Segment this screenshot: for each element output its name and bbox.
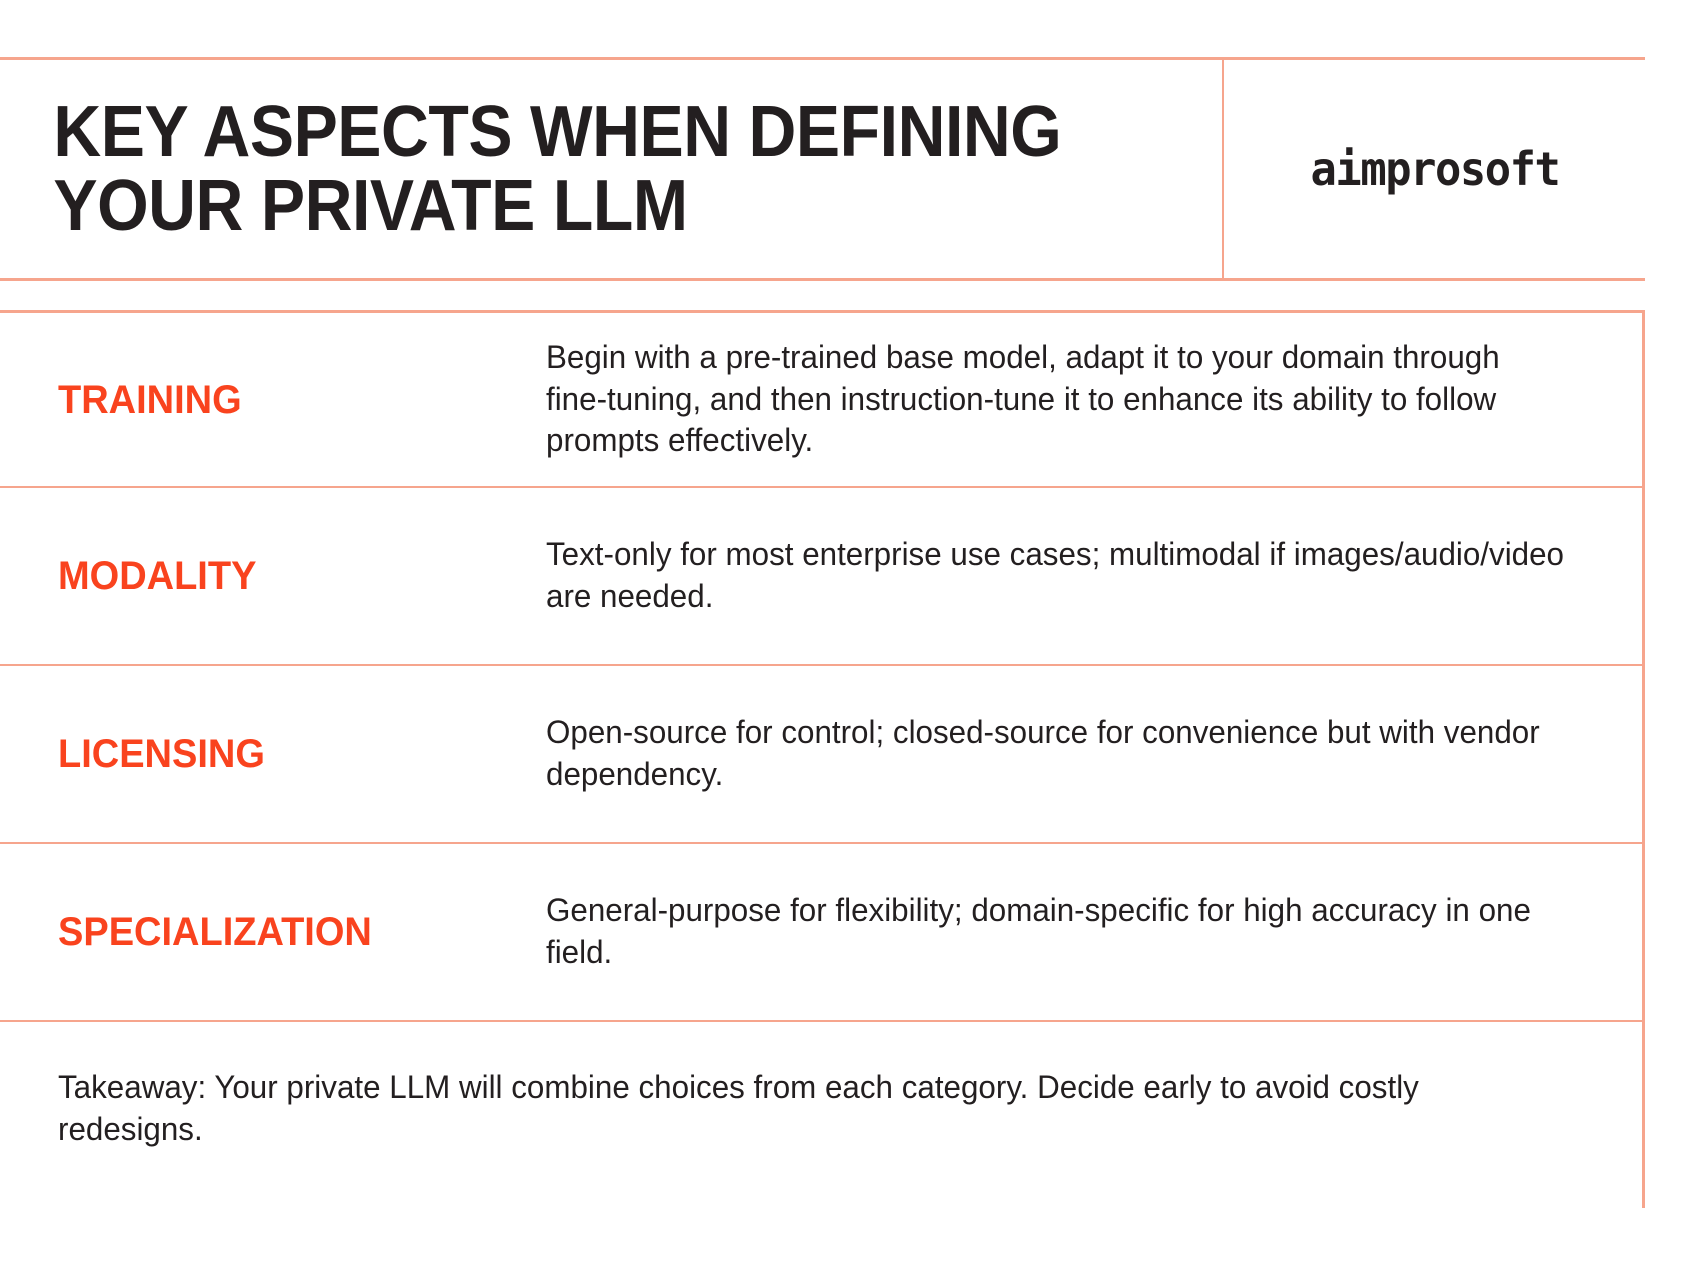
table-row: LICENSING Open-source for control; close… xyxy=(0,666,1642,844)
header-band: KEY ASPECTS WHEN DEFINING YOUR PRIVATE L… xyxy=(0,57,1645,281)
aspect-label: MODALITY xyxy=(58,554,256,598)
row-body-modality: Text-only for most enterprise use cases;… xyxy=(546,534,1642,617)
aspect-description: Open-source for control; closed-source f… xyxy=(546,712,1565,795)
header-title-area: KEY ASPECTS WHEN DEFINING YOUR PRIVATE L… xyxy=(0,60,1222,278)
row-label-specialization: SPECIALIZATION xyxy=(0,910,546,954)
aspect-description: General-purpose for flexibility; domain-… xyxy=(546,890,1565,973)
row-body-licensing: Open-source for control; closed-source f… xyxy=(546,712,1642,795)
aspect-label: LICENSING xyxy=(58,732,265,776)
takeaway-text: Takeaway: Your private LLM will combine … xyxy=(58,1066,1529,1151)
table-row: SPECIALIZATION General-purpose for flexi… xyxy=(0,844,1642,1022)
table-row: TRAINING Begin with a pre-trained base m… xyxy=(0,313,1642,488)
aspect-label: TRAINING xyxy=(58,378,242,422)
aspect-label: SPECIALIZATION xyxy=(58,910,372,954)
row-label-modality: MODALITY xyxy=(0,554,546,598)
aspect-description: Text-only for most enterprise use cases;… xyxy=(546,534,1565,617)
header-logo-area: aimprosoft xyxy=(1224,60,1645,278)
row-body-training: Begin with a pre-trained base model, ada… xyxy=(546,337,1642,462)
aimprosoft-logo: aimprosoft xyxy=(1310,142,1559,196)
page-title: KEY ASPECTS WHEN DEFINING YOUR PRIVATE L… xyxy=(0,95,1089,243)
row-label-licensing: LICENSING xyxy=(0,732,546,776)
aspect-description: Begin with a pre-trained base model, ada… xyxy=(546,337,1565,462)
table-row: MODALITY Text-only for most enterprise u… xyxy=(0,488,1642,666)
row-body-specialization: General-purpose for flexibility; domain-… xyxy=(546,890,1642,973)
row-label-training: TRAINING xyxy=(0,378,546,422)
takeaway-row: Takeaway: Your private LLM will combine … xyxy=(0,1022,1642,1208)
aspects-table: TRAINING Begin with a pre-trained base m… xyxy=(0,310,1645,1208)
